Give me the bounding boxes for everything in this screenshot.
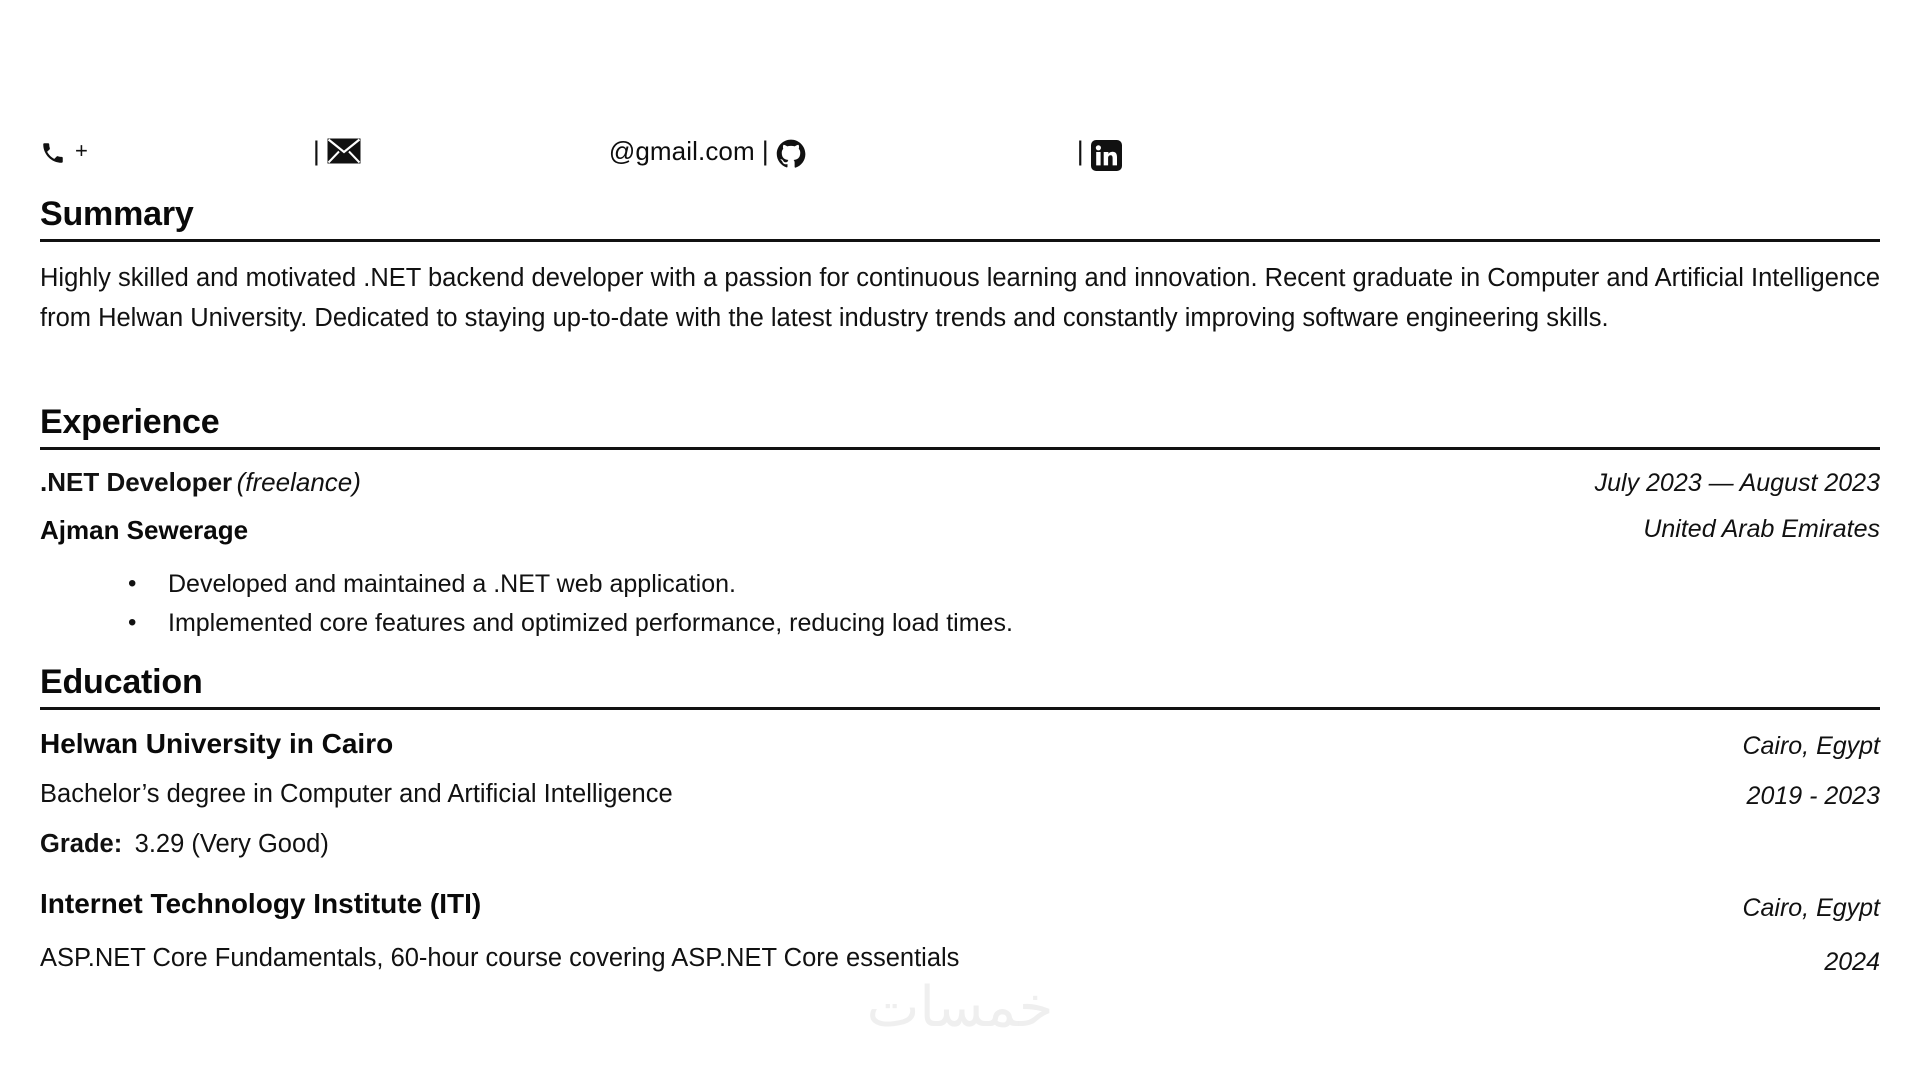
education-location: Cairo, Egypt xyxy=(1742,894,1880,923)
summary-section-body: Highly skilled and motivated .NET backen… xyxy=(40,258,1880,338)
education-entry: Helwan University in Cairo Cairo, Egypt … xyxy=(40,728,1880,888)
summary-text: Highly skilled and motivated .NET backen… xyxy=(40,258,1880,338)
envelope-icon xyxy=(327,138,361,164)
contact-separator-2: | xyxy=(755,138,776,165)
contact-linkedin[interactable] xyxy=(1091,136,1122,167)
education-dates: 2019 - 2023 xyxy=(1747,782,1880,811)
phone-prefix: + xyxy=(66,138,88,164)
summary-section-header: Summary xyxy=(40,197,1880,242)
education-location: Cairo, Egypt xyxy=(1742,732,1880,761)
contact-header: + | @gmail.com | xyxy=(40,128,1880,174)
education-school-row: Internet Technology Institute (ITI) Cair… xyxy=(40,888,1880,944)
contact-email[interactable]: @gmail.com xyxy=(327,136,755,167)
phone-icon xyxy=(40,140,66,166)
job-location: United Arab Emirates xyxy=(1643,515,1880,544)
contact-separator-3: | xyxy=(1070,138,1091,165)
experience-entry: .NET Developer (freelance) July 2023 — A… xyxy=(40,467,1880,643)
experience-section-header: Experience xyxy=(40,405,1880,450)
education-section-header: Education xyxy=(40,665,1880,710)
job-dates: July 2023 — August 2023 xyxy=(1595,469,1880,498)
email-domain: @gmail.com xyxy=(609,136,755,167)
education-school-row: Helwan University in Cairo Cairo, Egypt xyxy=(40,728,1880,780)
experience-heading: Experience xyxy=(40,405,1880,441)
experience-org-row: Ajman Sewerage United Arab Emirates xyxy=(40,515,1880,565)
contact-separator-1: | xyxy=(306,138,327,165)
github-icon xyxy=(776,139,806,169)
job-title-note: (freelance) xyxy=(237,467,361,497)
contact-phone[interactable]: + xyxy=(40,138,306,164)
experience-entries: .NET Developer (freelance) July 2023 — A… xyxy=(40,467,1880,643)
watermark: خمسات xyxy=(0,975,1920,1040)
summary-divider xyxy=(40,239,1880,242)
experience-title-row: .NET Developer (freelance) July 2023 — A… xyxy=(40,467,1880,515)
education-entries: Helwan University in Cairo Cairo, Egypt … xyxy=(40,728,1880,1008)
education-heading: Education xyxy=(40,665,1880,701)
education-school: Helwan University in Cairo xyxy=(40,728,393,759)
job-title: .NET Developer xyxy=(40,467,232,497)
list-item: Implemented core features and optimized … xyxy=(40,604,1880,643)
education-grade-label: Grade: xyxy=(40,830,122,858)
education-course: ASP.NET Core Fundamentals, 60-hour cours… xyxy=(40,944,959,972)
education-degree-row: Bachelor’s degree in Computer and Artifi… xyxy=(40,780,1880,830)
linkedin-icon xyxy=(1091,140,1122,171)
education-dates: 2024 xyxy=(1824,948,1880,977)
resume-page: + | @gmail.com | xyxy=(0,0,1920,1080)
list-item: Developed and maintained a .NET web appl… xyxy=(40,565,1880,604)
education-degree: Bachelor’s degree in Computer and Artifi… xyxy=(40,780,673,808)
experience-bullets: Developed and maintained a .NET web appl… xyxy=(40,565,1880,643)
education-grade-row: Grade: 3.29 (Very Good) xyxy=(40,830,1880,882)
experience-divider xyxy=(40,447,1880,450)
job-organization: Ajman Sewerage xyxy=(40,515,248,545)
education-divider xyxy=(40,707,1880,710)
education-grade-value: 3.29 (Very Good) xyxy=(127,830,329,858)
education-school: Internet Technology Institute (ITI) xyxy=(40,888,481,919)
contact-github[interactable] xyxy=(776,136,1070,166)
summary-heading: Summary xyxy=(40,197,1880,233)
